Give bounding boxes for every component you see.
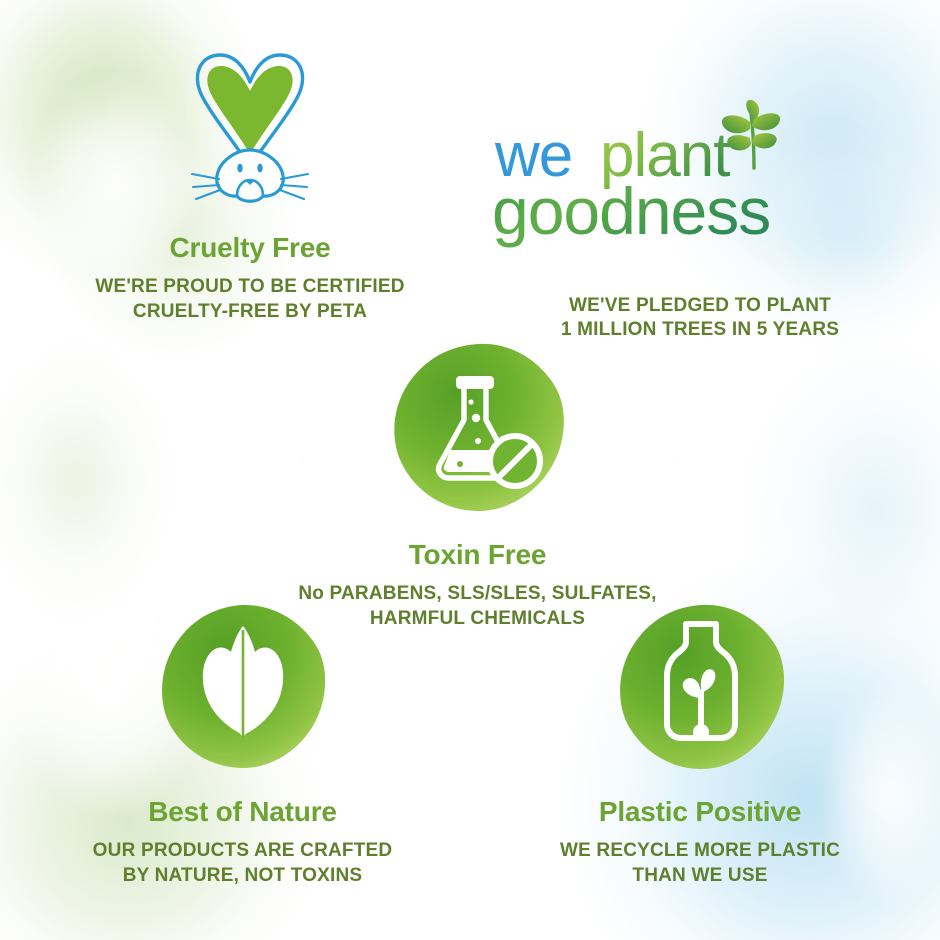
cruelty-free-icon-wrap xyxy=(20,46,480,211)
three-leaves-icon xyxy=(155,600,330,775)
we-plant-goodness-subtitle-line-1: WE'VE PLEDGED TO PLANT xyxy=(470,294,930,318)
bottle-sprout-icon xyxy=(613,600,788,775)
toxin-free-heading: Toxin Free xyxy=(245,540,710,569)
cruelty-free-subtitle-line-1: WE'RE PROUD TO BE CERTIFIED xyxy=(20,275,480,299)
plastic-positive-subtitle-line-2: THAN WE USE xyxy=(470,864,930,888)
best-of-nature-subtitle-line-2: BY NATURE, NOT TOXINS xyxy=(15,864,470,888)
feature-block-plastic-positive: Plastic Positive WE RECYCLE MORE PLASTIC… xyxy=(470,600,930,888)
plastic-positive-subtitle-line-1: WE RECYCLE MORE PLASTIC xyxy=(470,839,930,863)
best-of-nature-subtitle: OUR PRODUCTS ARE CRAFTED BY NATURE, NOT … xyxy=(15,839,470,888)
flask-no-toxins-icon xyxy=(388,338,568,518)
feature-block-cruelty-free: Cruelty Free WE'RE PROUD TO BE CERTIFIED… xyxy=(20,46,480,324)
watercolor-wash-left-middle-green xyxy=(0,330,180,630)
cruelty-free-subtitle: WE'RE PROUD TO BE CERTIFIED CRUELTY-FREE… xyxy=(20,275,480,324)
feature-block-best-of-nature: Best of Nature OUR PRODUCTS ARE CRAFTED … xyxy=(15,600,470,888)
feature-block-toxin-free: Toxin Free No PARABENS, SLS/SLES, SULFAT… xyxy=(245,338,710,631)
feature-block-we-plant-goodness: we plant goodness WE'VE PLEDGED TO PLANT… xyxy=(470,100,930,343)
cruelty-free-heading: Cruelty Free xyxy=(20,233,480,262)
we-plant-goodness-logo: we plant goodness xyxy=(470,100,930,250)
we-plant-goodness-wordmark: we plant goodness xyxy=(485,114,915,264)
plastic-positive-icon-wrap xyxy=(470,600,930,775)
plastic-positive-subtitle: WE RECYCLE MORE PLASTIC THAN WE USE xyxy=(470,839,930,888)
svg-text:goodness: goodness xyxy=(492,174,770,248)
we-plant-goodness-subtitle: WE'VE PLEDGED TO PLANT 1 MILLION TREES I… xyxy=(470,294,930,343)
plastic-positive-heading: Plastic Positive xyxy=(470,797,930,826)
best-of-nature-heading: Best of Nature xyxy=(15,797,470,826)
best-of-nature-icon-wrap xyxy=(15,600,470,775)
cruelty-free-subtitle-line-2: CRUELTY-FREE BY PETA xyxy=(20,300,480,324)
bunny-heart-icon xyxy=(175,46,325,211)
best-of-nature-subtitle-line-1: OUR PRODUCTS ARE CRAFTED xyxy=(15,839,470,863)
toxin-free-icon-wrap xyxy=(245,338,710,518)
infographic-canvas: Cruelty Free WE'RE PROUD TO BE CERTIFIED… xyxy=(0,0,940,940)
